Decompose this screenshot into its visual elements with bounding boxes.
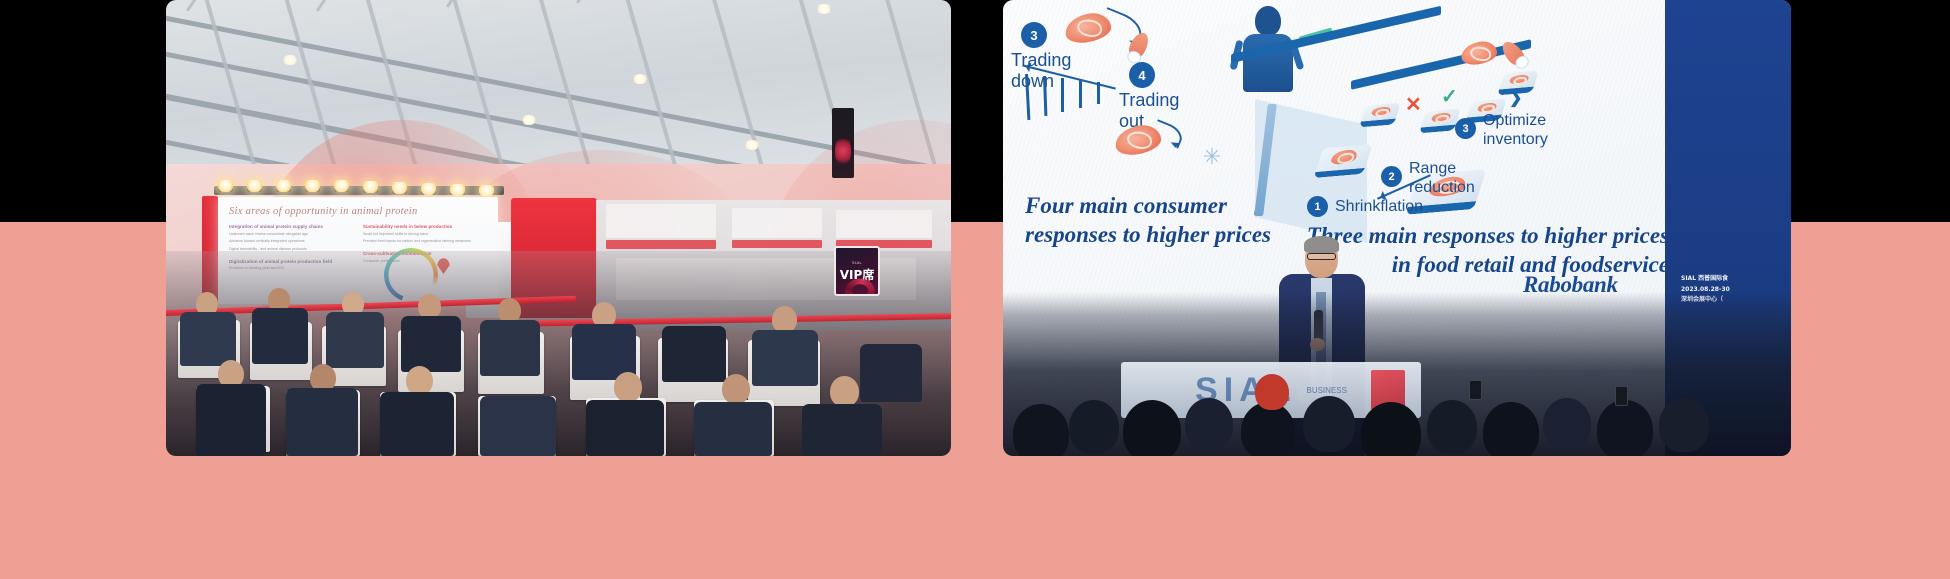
sial-logo-text: SIAL (852, 260, 862, 265)
attendee-body (401, 316, 461, 372)
product-tray (1359, 103, 1401, 128)
attendee-body (802, 404, 882, 456)
audience-head (1543, 398, 1591, 450)
badge-number: 3 (1030, 28, 1037, 43)
attendee-head (406, 366, 433, 395)
check-icon: ✓ (1441, 84, 1458, 109)
conference-audience-photo: Six areas of opportunity in animal prote… (166, 0, 951, 456)
attendee-body (586, 400, 664, 456)
audience-head (1013, 404, 1069, 456)
badge-number: 4 (1138, 68, 1145, 83)
audience-head (1241, 402, 1295, 456)
vip-seating-sign: SIAL VIP席 (834, 246, 880, 296)
attendee-body (252, 308, 308, 364)
retail-badge-3: 3 (1455, 118, 1476, 139)
badge-number: 2 (1388, 171, 1394, 183)
attendee-head (830, 376, 859, 407)
response-badge-3: 3 (1021, 22, 1047, 48)
attendee-body (694, 402, 772, 456)
ceiling-lamp (521, 115, 537, 125)
smartphone (1469, 380, 1482, 400)
slide-column-heading: Sustainability needs in below production (363, 224, 487, 230)
audience-head (1483, 402, 1539, 456)
attendee-body (752, 330, 818, 386)
audience-head (1123, 400, 1181, 456)
audience-head (1659, 398, 1709, 452)
hanging-banner (832, 108, 854, 178)
attendee-head (506, 370, 533, 399)
slide-bullet: Premium feed inputs for carbon and regen… (363, 239, 487, 245)
retail-label-optimize-inventory: Optimize inventory (1483, 112, 1548, 150)
badge-number: 1 (1314, 201, 1320, 213)
ceiling-lamp (632, 74, 648, 84)
ceiling-lamp (816, 4, 832, 14)
ceiling-lamp (744, 140, 760, 150)
slide-title: Six areas of opportunity in animal prote… (229, 206, 487, 217)
response-label-trading-down: Trading down (1011, 50, 1071, 92)
retail-label-shrinkflation: Shrinkflation (1335, 198, 1423, 217)
audience-head (1427, 400, 1477, 454)
attendee-body (860, 344, 922, 402)
slide-column-heading: Integration of animal protein supply cha… (229, 224, 353, 230)
steak-icon (1459, 39, 1498, 67)
attendee-body (180, 312, 236, 366)
smartphone (1615, 386, 1628, 406)
headline-consumer-responses: Four main consumer responses to higher p… (1025, 192, 1271, 250)
attendee-body (662, 326, 726, 382)
presentation-slide-right: ❯ 3 Trading down (1003, 0, 1791, 456)
ceiling-lamp (282, 55, 298, 65)
retail-label-range-reduction: Range reduction (1409, 160, 1475, 198)
audience-head (1303, 396, 1355, 452)
audience-head (1069, 400, 1119, 454)
rabobank-keynote-photo: ❯ 3 Trading down (1003, 0, 1791, 456)
audience-head (1597, 400, 1653, 456)
attendee-body (480, 396, 556, 456)
attendee-body (480, 320, 540, 376)
response-badge-4: 4 (1129, 62, 1155, 88)
attendee-body (380, 392, 454, 456)
audience-head (1185, 398, 1233, 450)
attendee-head (722, 374, 750, 404)
page-canvas: Six areas of opportunity in animal prote… (0, 0, 1950, 579)
badge-number: 3 (1462, 123, 1468, 135)
attendee-body (196, 384, 266, 456)
retail-badge-1: 1 (1307, 196, 1328, 217)
audience-head (1255, 374, 1289, 410)
attendee-body (326, 312, 384, 368)
product-tray (1497, 71, 1539, 96)
attendee-body (286, 388, 358, 456)
cross-icon: ✕ (1405, 92, 1422, 117)
slide-bullet: Advance toward vertically integrated ope… (229, 239, 353, 245)
slide-bullet: Small but important shifts in driving va… (363, 232, 487, 238)
sial-banner-sub: BUSINESS (1306, 386, 1346, 395)
slide-bullet: Upstream value chains consolidate alongs… (229, 232, 353, 238)
retail-badge-2: 2 (1381, 166, 1402, 187)
attendee-head (614, 372, 642, 402)
sparkle-icon: ✳ (1201, 146, 1223, 168)
attendee-head (772, 306, 797, 333)
